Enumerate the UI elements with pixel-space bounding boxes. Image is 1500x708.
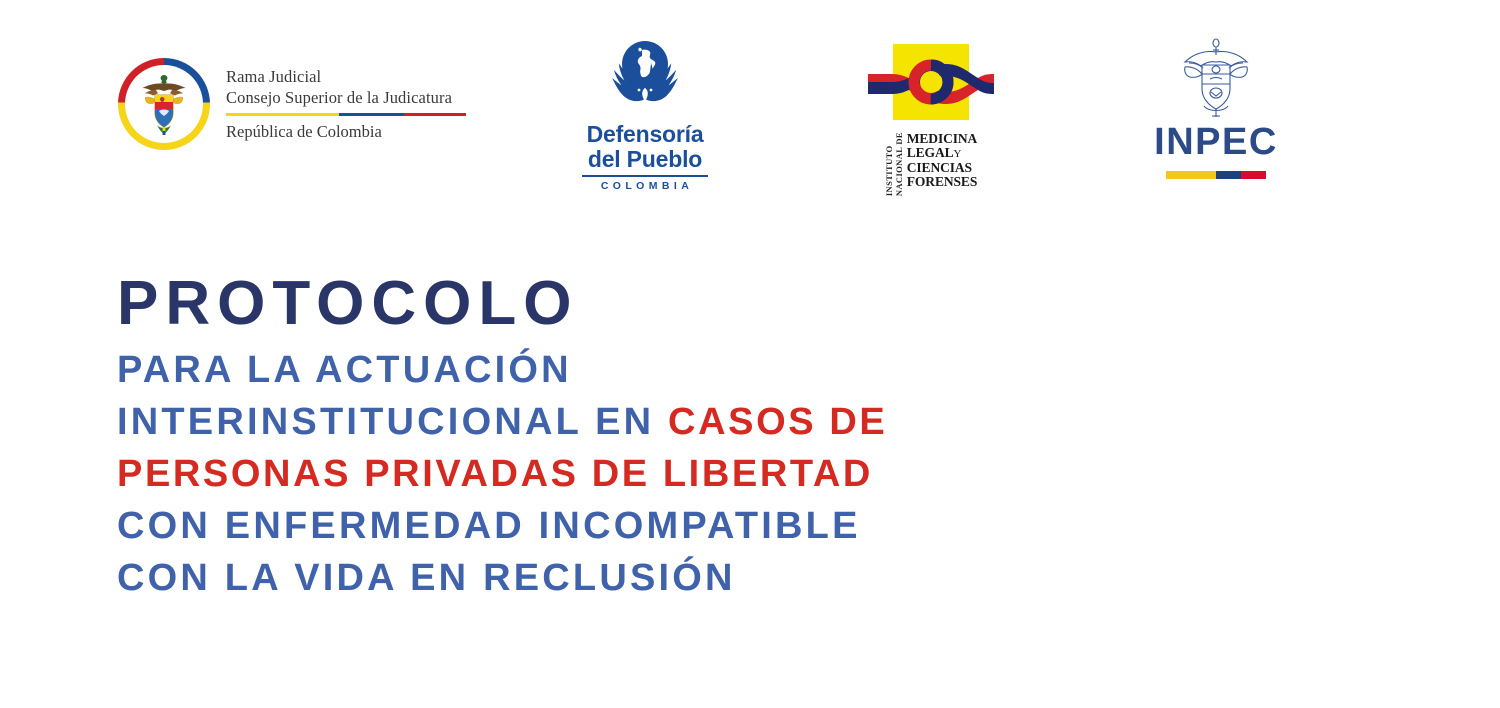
rama-judicial-line2: Consejo Superior de la Judicatura — [226, 87, 466, 108]
yellow-square-red-blue-eye-ribbon-icon — [868, 40, 994, 128]
subtitle-line-2-text: INTERINSTITUCIONAL EN — [117, 401, 668, 443]
rama-judicial-wordmark: Rama Judicial Consejo Superior de la Jud… — [226, 66, 466, 142]
subtitle-line-1: PARA LA ACTUACIÓN — [117, 344, 1217, 396]
defensoria-line2: del Pueblo — [587, 147, 704, 172]
subtitle-line-2-highlight: CASOS DE — [668, 401, 887, 443]
tricolor-rule — [226, 113, 466, 116]
medicina-legal-vertical-line2: NACIONAL DE — [895, 132, 904, 196]
colombia-coat-of-arms-tricolor-ring-icon — [118, 58, 210, 150]
subtitle-line-5: CON LA VIDA EN RECLUSIÓN — [117, 552, 1217, 604]
defensoria-line1: Defensoría — [587, 122, 704, 147]
inpec-wordmark: INPEC — [1154, 122, 1278, 162]
defensoria-country-label: COLOMBIA — [597, 180, 693, 192]
medicina-legal-line2: LEGAL — [907, 145, 954, 160]
subtitle-line-3: PERSONAS PRIVADAS DE LIBERTAD — [117, 448, 1217, 500]
medicina-legal-line3: CIENCIAS — [907, 161, 977, 175]
rama-judicial-line1: Rama Judicial — [226, 66, 466, 87]
page-title: PROTOCOLO — [117, 270, 1217, 338]
colombia-coat-of-arms-line-art-icon — [1177, 36, 1255, 120]
medicina-legal-wordmark: INSTITUTO NACIONAL DE MEDICINA LEGALY CI… — [885, 132, 977, 196]
rama-judicial-line3: República de Colombia — [226, 121, 466, 142]
subtitle-line-2: INTERINSTITUCIONAL EN CASOS DE — [117, 396, 1217, 448]
defensoria-underline — [582, 175, 708, 177]
coat-of-arms-icon — [133, 71, 195, 137]
cover-title-block: PROTOCOLO PARA LA ACTUACIÓN INTERINSTITU… — [117, 270, 1217, 604]
logo-inpec: INPEC — [1146, 36, 1286, 179]
two-doves-with-colombia-map-icon — [579, 38, 711, 120]
medicina-legal-line1: MEDICINA — [907, 132, 977, 146]
medicina-legal-line4: FORENSES — [907, 175, 977, 189]
medicina-legal-line2-suffix: Y — [954, 148, 962, 160]
inpec-tricolor-rule — [1166, 171, 1266, 179]
institutional-logo-bar: Rama Judicial Consejo Superior de la Jud… — [0, 0, 1500, 210]
medicina-legal-vertical-text: INSTITUTO NACIONAL DE — [885, 132, 904, 196]
logo-rama-judicial: Rama Judicial Consejo Superior de la Jud… — [118, 58, 466, 150]
subtitle-line-4: CON ENFERMEDAD INCOMPATIBLE — [117, 500, 1217, 552]
medicina-legal-vertical-line1: INSTITUTO — [885, 132, 894, 196]
defensoria-wordmark: Defensoría del Pueblo — [587, 122, 704, 172]
logo-medicina-legal: INSTITUTO NACIONAL DE MEDICINA LEGALY CI… — [866, 40, 996, 196]
logo-defensoria-del-pueblo: Defensoría del Pueblo COLOMBIA — [570, 38, 720, 192]
